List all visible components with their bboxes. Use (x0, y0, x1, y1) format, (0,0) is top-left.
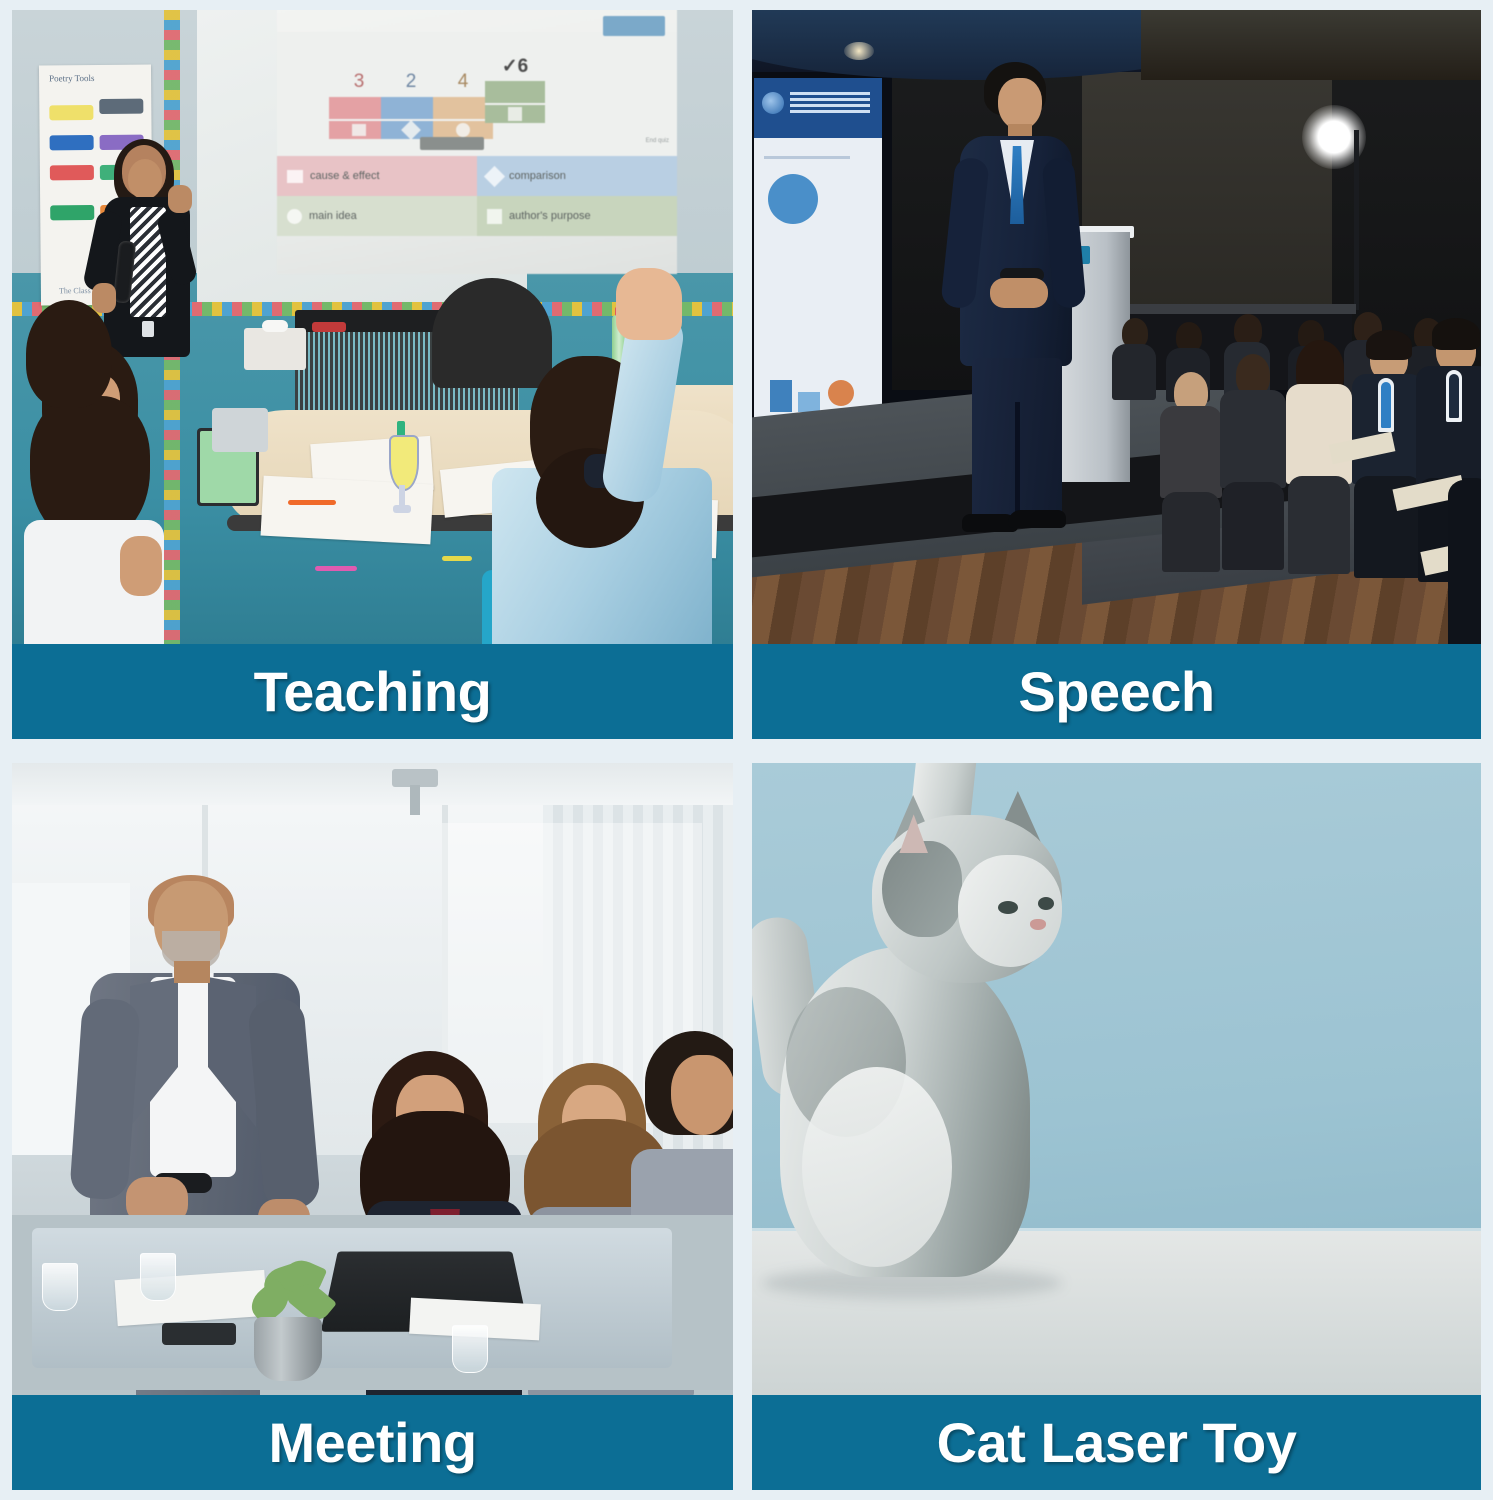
result-bar: 4 (433, 97, 493, 139)
result-bar-top (329, 97, 389, 119)
result-bar: 3 (329, 97, 389, 139)
light-stand-pole (1354, 130, 1359, 310)
panel-speech[interactable]: Speech (752, 10, 1481, 739)
speech-photo (752, 10, 1481, 644)
slide-show-graph-button[interactable] (420, 137, 484, 150)
teacher-face (128, 159, 162, 199)
slide-answer-options: cause & effect comparison main idea auth… (277, 156, 677, 236)
circle-icon (287, 209, 302, 224)
poster-footer: The Class (59, 286, 91, 295)
panel-caption-speech: Speech (752, 644, 1481, 739)
speaker-shoe-right (1008, 510, 1066, 528)
cat-eye (1038, 897, 1054, 910)
banner-subtitle-line (764, 156, 850, 159)
poster-chip (50, 135, 94, 150)
result-bar-count: 4 (458, 71, 469, 93)
audience-member (1220, 354, 1286, 570)
teacher-hand-left (168, 185, 192, 213)
answer-option[interactable]: cause & effect (277, 156, 477, 196)
student-seated-back (12, 300, 132, 430)
audience-torso (1220, 390, 1286, 488)
answer-option[interactable]: main idea (277, 196, 477, 236)
result-bar-bottom (433, 119, 493, 139)
projected-quiz-slide: 3 2 4 ✓6 (277, 10, 677, 274)
audience-legs (1222, 482, 1284, 570)
triangle-icon (352, 124, 366, 136)
answer-option-label: main idea (309, 210, 357, 222)
slide-end-quiz-label[interactable]: End quiz (646, 138, 669, 144)
panel-caption-meeting: Meeting (12, 1395, 733, 1490)
audience-torso (1448, 480, 1481, 644)
banner-logo-icon (762, 92, 784, 114)
banner-chart-circle (768, 174, 818, 224)
slide-next-button[interactable] (603, 16, 665, 36)
plant-pot (254, 1317, 322, 1381)
tissue-box (244, 328, 306, 370)
speaker-face (998, 78, 1042, 130)
cat-head-marking (882, 841, 962, 937)
result-bar-bottom (329, 119, 389, 139)
student-hair (26, 300, 112, 408)
poster-chip (50, 205, 94, 220)
ceiling-right-soffit (1141, 10, 1481, 80)
panel-teaching[interactable]: 3 2 4 ✓6 (12, 10, 733, 739)
slide-result-bars: 3 2 4 ✓6 (329, 84, 619, 139)
square-icon (508, 107, 522, 121)
audience-hair (1366, 330, 1412, 360)
water-glass (42, 1263, 78, 1311)
ceiling-fixture-stem (410, 785, 420, 815)
teaching-photo: 3 2 4 ✓6 (12, 10, 733, 644)
use-case-collage: 3 2 4 ✓6 (0, 0, 1493, 1500)
audience-hair (1432, 318, 1480, 350)
result-bar-top (433, 97, 493, 119)
poster-chip (50, 165, 94, 180)
presenter-neck (174, 961, 210, 983)
result-bar-bottom (381, 119, 441, 139)
panel-cat-laser-toy[interactable]: 60 % ⌄ Cat Laser Toy (752, 763, 1481, 1490)
audience-member-foreground (1448, 480, 1481, 644)
audience-front-rows (1154, 330, 1481, 590)
result-bar: 2 (381, 97, 441, 139)
cat-chest (802, 1067, 952, 1267)
answer-option[interactable]: comparison (477, 156, 677, 196)
remote-on-table (162, 1323, 236, 1345)
cat-photo: 60 % ⌄ (752, 763, 1481, 1395)
speaker-figure (942, 62, 1092, 532)
speaker-hands (990, 278, 1048, 308)
trophy-base (393, 505, 411, 513)
poster-chip (99, 99, 143, 114)
result-bar-top (485, 81, 545, 103)
audience-member (1160, 372, 1222, 572)
cat-nose (1030, 919, 1046, 930)
table-plant (240, 1261, 336, 1381)
banner-bar-tall (770, 380, 792, 412)
banner-heading-lines (790, 92, 870, 114)
diamond-icon (401, 120, 421, 140)
banner-bar-short (798, 392, 820, 412)
result-bar-bottom (485, 103, 545, 123)
triangle-icon (287, 170, 303, 183)
audience-jacket (1286, 384, 1352, 484)
panel-meeting[interactable]: Meeting (12, 763, 733, 1490)
audience-member (1112, 318, 1156, 398)
student-hand-raised (482, 278, 732, 644)
trophy-stem (399, 485, 405, 507)
audience-tie (1381, 382, 1391, 428)
student-raised-hand (616, 268, 682, 340)
cat-figure (762, 763, 1092, 1277)
result-bar-count: 3 (354, 71, 365, 93)
audience-tie (1449, 374, 1459, 418)
trophy-cup (389, 435, 419, 491)
meeting-photo (12, 763, 733, 1395)
audience-torso (1160, 406, 1222, 498)
water-glass (452, 1325, 488, 1373)
audience-legs (1288, 476, 1350, 574)
answer-option-label: author's purpose (509, 210, 591, 222)
answer-option[interactable]: author's purpose (477, 196, 677, 236)
square-icon (487, 209, 502, 224)
banner-accent-circle (828, 380, 854, 406)
student-arm (120, 536, 162, 596)
panel-caption-teaching: Teaching (12, 644, 733, 739)
poster-title: Poetry Tools (49, 73, 145, 84)
ceiling-downlight-icon (844, 42, 874, 60)
audience-torso (1112, 344, 1156, 400)
result-bar: ✓6 (485, 81, 545, 139)
diamond-icon (484, 165, 505, 186)
yellow-highlighter (442, 556, 472, 561)
tablet-stand (212, 408, 268, 452)
answer-option-label: cause & effect (310, 170, 380, 182)
poster-chip (49, 105, 93, 120)
result-bar-top (381, 97, 441, 119)
result-bar-count: ✓6 (502, 55, 529, 78)
result-bar-count: 2 (406, 71, 417, 93)
cat-eye (998, 901, 1018, 914)
pink-pen (315, 566, 357, 571)
panel-caption-cat: Cat Laser Toy (752, 1395, 1481, 1490)
trophy-award (389, 435, 415, 517)
teacher-id-badge (142, 321, 154, 337)
water-glass (140, 1253, 176, 1301)
circle-icon (456, 123, 470, 137)
room-ceiling (12, 763, 733, 805)
audience-legs (1162, 492, 1220, 572)
answer-option-label: comparison (509, 170, 566, 182)
attendee-face (671, 1055, 733, 1135)
red-marker-box (312, 322, 346, 332)
orange-pen (288, 500, 336, 505)
